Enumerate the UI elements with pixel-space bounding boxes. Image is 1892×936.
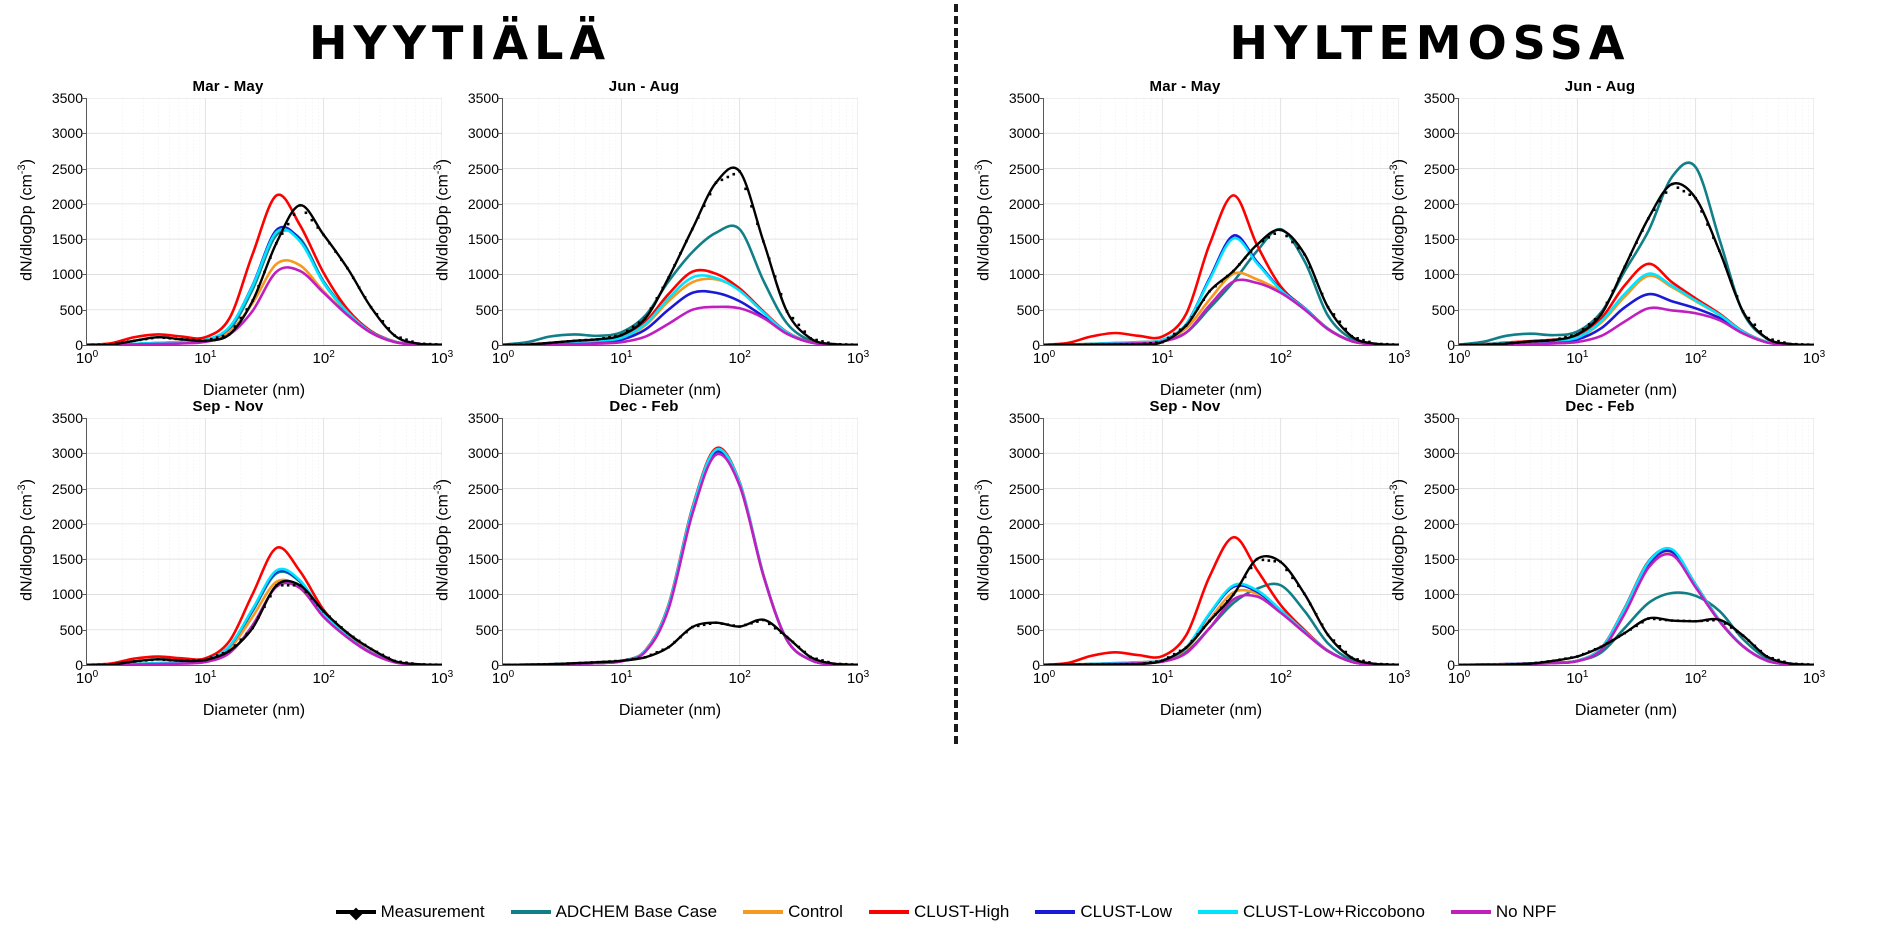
- y-tick-mark: [1454, 274, 1459, 275]
- x-tick-label: 101: [610, 669, 632, 687]
- y-tick-label: 500: [60, 302, 83, 318]
- legend-item-no-npf[interactable]: No NPF: [1451, 902, 1556, 922]
- x-tick-label: 100: [76, 349, 98, 367]
- y-axis-label: dN/dlogDp (cm-3): [16, 100, 36, 340]
- x-axis-label: Diameter (nm): [60, 702, 448, 720]
- x-tick-label: 103: [847, 349, 869, 367]
- x-tick-label: 102: [1270, 349, 1292, 367]
- y-tick-label: 2000: [1009, 196, 1040, 212]
- x-tick-label: 101: [1566, 349, 1588, 367]
- y-axis-label: dN/dlogDp (cm-3): [432, 420, 452, 660]
- y-tick-label: 1000: [52, 586, 83, 602]
- y-tick-mark: [498, 274, 503, 275]
- y-tick-mark: [1039, 559, 1044, 560]
- plot-area: 0500100015002000250030003500100101102103: [1043, 98, 1399, 346]
- x-tick-label: 102: [1270, 669, 1292, 687]
- y-tick-mark: [82, 239, 87, 240]
- legend-swatch-icon: [511, 910, 551, 914]
- y-tick-mark: [1039, 169, 1044, 170]
- y-tick-label: 500: [1432, 302, 1455, 318]
- y-tick-label: 1500: [52, 231, 83, 247]
- y-tick-label: 3000: [1424, 445, 1455, 461]
- panel-hyltemossa-mar-may: Mar - MaydN/dlogDp (cm-3)Diameter (nm)05…: [965, 78, 1405, 398]
- y-tick-label: 500: [476, 622, 499, 638]
- y-tick-label: 1000: [468, 586, 499, 602]
- panel-hyltemossa-jun-aug: Jun - AugdN/dlogDp (cm-3)Diameter (nm)05…: [1380, 78, 1820, 398]
- x-tick-label: 102: [729, 669, 751, 687]
- panel-hyytiala-mar-may: Mar - MaydN/dlogDp (cm-3)Diameter (nm)05…: [8, 78, 448, 398]
- y-tick-label: 1000: [1009, 266, 1040, 282]
- y-tick-label: 3000: [468, 125, 499, 141]
- y-tick-mark: [82, 594, 87, 595]
- y-tick-label: 1000: [1424, 586, 1455, 602]
- site-title-hyltemossa: HYLTEMOSSA: [1090, 16, 1770, 70]
- plot-area: 0500100015002000250030003500100101102103: [502, 98, 858, 346]
- y-tick-mark: [1039, 665, 1044, 666]
- y-tick-mark: [1039, 274, 1044, 275]
- y-tick-mark: [498, 453, 503, 454]
- y-tick-mark: [498, 418, 503, 419]
- y-tick-mark: [498, 133, 503, 134]
- y-tick-label: 1500: [1424, 551, 1455, 567]
- legend-label: Control: [788, 902, 843, 922]
- legend-swatch-icon: [1035, 910, 1075, 914]
- x-tick-label: 101: [1151, 349, 1173, 367]
- y-tick-mark: [82, 133, 87, 134]
- legend-label: ADCHEM Base Case: [556, 902, 718, 922]
- x-tick-label: 103: [1803, 669, 1825, 687]
- y-tick-mark: [1454, 559, 1459, 560]
- legend-item-clust-high[interactable]: CLUST-High: [869, 902, 1009, 922]
- x-tick-label: 100: [76, 669, 98, 687]
- y-tick-label: 3500: [468, 410, 499, 426]
- y-tick-label: 2000: [1009, 516, 1040, 532]
- legend-swatch-icon: [336, 910, 376, 914]
- y-axis-label: dN/dlogDp (cm-3): [1388, 100, 1408, 340]
- y-tick-label: 2000: [1424, 516, 1455, 532]
- y-tick-label: 2000: [52, 516, 83, 532]
- y-tick-mark: [1039, 418, 1044, 419]
- panel-hyltemossa-sep-nov: Sep - NovdN/dlogDp (cm-3)Diameter (nm)05…: [965, 398, 1405, 718]
- y-tick-mark: [1454, 98, 1459, 99]
- y-tick-label: 500: [1017, 622, 1040, 638]
- legend-swatch-icon: [1198, 910, 1238, 914]
- legend-swatch-icon: [1451, 910, 1491, 914]
- plot-area: 0500100015002000250030003500100101102103: [86, 98, 442, 346]
- y-tick-mark: [82, 310, 87, 311]
- y-tick-label: 3000: [468, 445, 499, 461]
- y-tick-label: 3000: [52, 445, 83, 461]
- y-axis-label: dN/dlogDp (cm-3): [432, 100, 452, 340]
- x-axis-label: Diameter (nm): [1432, 702, 1820, 720]
- y-tick-mark: [1039, 98, 1044, 99]
- y-tick-mark: [498, 665, 503, 666]
- y-tick-mark: [498, 559, 503, 560]
- x-axis-label: Diameter (nm): [1017, 702, 1405, 720]
- y-tick-label: 1500: [1009, 551, 1040, 567]
- y-tick-mark: [1039, 239, 1044, 240]
- x-tick-label: 100: [1448, 349, 1470, 367]
- y-tick-label: 2000: [468, 516, 499, 532]
- y-tick-mark: [1039, 453, 1044, 454]
- legend-item-control[interactable]: Control: [743, 902, 843, 922]
- y-tick-label: 2000: [468, 196, 499, 212]
- y-tick-label: 2000: [1424, 196, 1455, 212]
- x-tick-label: 101: [1151, 669, 1173, 687]
- legend-label: CLUST-Low: [1080, 902, 1172, 922]
- y-tick-mark: [82, 345, 87, 346]
- y-tick-mark: [82, 665, 87, 666]
- x-tick-label: 103: [847, 669, 869, 687]
- legend-item-clust-low-riccobono[interactable]: CLUST-Low+Riccobono: [1198, 902, 1425, 922]
- legend-label: Measurement: [381, 902, 485, 922]
- x-tick-label: 102: [313, 669, 335, 687]
- y-axis-label: dN/dlogDp (cm-3): [1388, 420, 1408, 660]
- y-tick-mark: [1039, 524, 1044, 525]
- y-tick-label: 2500: [1424, 161, 1455, 177]
- y-tick-mark: [82, 418, 87, 419]
- y-tick-label: 3500: [52, 410, 83, 426]
- y-tick-label: 500: [476, 302, 499, 318]
- y-tick-mark: [1454, 665, 1459, 666]
- x-tick-label: 100: [492, 669, 514, 687]
- y-tick-mark: [498, 204, 503, 205]
- y-tick-mark: [1454, 204, 1459, 205]
- x-tick-label: 100: [1033, 669, 1055, 687]
- x-tick-label: 101: [1566, 669, 1588, 687]
- y-tick-mark: [1454, 524, 1459, 525]
- x-tick-label: 101: [194, 669, 216, 687]
- y-tick-label: 2500: [468, 481, 499, 497]
- y-tick-mark: [1454, 489, 1459, 490]
- y-tick-mark: [498, 169, 503, 170]
- y-tick-label: 2500: [52, 481, 83, 497]
- plot-area: 0500100015002000250030003500100101102103: [1458, 418, 1814, 666]
- y-tick-mark: [82, 630, 87, 631]
- legend-swatch-icon: [869, 910, 909, 914]
- x-tick-label: 101: [610, 349, 632, 367]
- y-tick-mark: [1454, 453, 1459, 454]
- y-tick-mark: [82, 274, 87, 275]
- y-tick-mark: [498, 524, 503, 525]
- y-tick-label: 2500: [468, 161, 499, 177]
- y-tick-mark: [498, 310, 503, 311]
- y-tick-mark: [498, 345, 503, 346]
- plot-area: 0500100015002000250030003500100101102103: [502, 418, 858, 666]
- legend-label: No NPF: [1496, 902, 1556, 922]
- y-tick-mark: [498, 630, 503, 631]
- figure-legend: MeasurementADCHEM Base CaseControlCLUST-…: [0, 902, 1892, 922]
- y-tick-label: 500: [1432, 622, 1455, 638]
- y-tick-label: 3500: [1424, 410, 1455, 426]
- y-tick-mark: [498, 489, 503, 490]
- y-axis-label: dN/dlogDp (cm-3): [973, 100, 993, 340]
- y-tick-label: 1000: [468, 266, 499, 282]
- site-title-hyytiala: HYYTIÄLÄ: [150, 16, 770, 70]
- y-tick-mark: [1454, 345, 1459, 346]
- y-tick-label: 500: [60, 622, 83, 638]
- y-tick-mark: [1454, 133, 1459, 134]
- y-tick-label: 2000: [52, 196, 83, 212]
- y-tick-mark: [498, 594, 503, 595]
- y-tick-mark: [82, 204, 87, 205]
- y-tick-mark: [82, 524, 87, 525]
- x-tick-label: 102: [313, 349, 335, 367]
- y-axis-label: dN/dlogDp (cm-3): [973, 420, 993, 660]
- site-divider: [954, 4, 958, 744]
- x-axis-label: Diameter (nm): [476, 702, 864, 720]
- y-tick-label: 1000: [52, 266, 83, 282]
- y-tick-label: 3000: [1009, 125, 1040, 141]
- y-tick-label: 2500: [1424, 481, 1455, 497]
- y-axis-label: dN/dlogDp (cm-3): [16, 420, 36, 660]
- y-tick-mark: [82, 489, 87, 490]
- x-tick-label: 101: [194, 349, 216, 367]
- x-tick-label: 100: [492, 349, 514, 367]
- y-tick-mark: [1039, 133, 1044, 134]
- y-tick-label: 3500: [1009, 410, 1040, 426]
- x-tick-label: 102: [1685, 349, 1707, 367]
- y-tick-mark: [1454, 594, 1459, 595]
- panel-hyytiala-jun-aug: Jun - AugdN/dlogDp (cm-3)Diameter (nm)05…: [424, 78, 864, 398]
- y-tick-mark: [1454, 630, 1459, 631]
- y-tick-mark: [82, 453, 87, 454]
- y-tick-mark: [1454, 418, 1459, 419]
- y-tick-mark: [1454, 239, 1459, 240]
- legend-item-measurement[interactable]: Measurement: [336, 902, 485, 922]
- panel-hyytiala-sep-nov: Sep - NovdN/dlogDp (cm-3)Diameter (nm)05…: [8, 398, 448, 718]
- x-tick-label: 103: [1803, 349, 1825, 367]
- y-tick-mark: [1454, 310, 1459, 311]
- y-tick-label: 1500: [1424, 231, 1455, 247]
- y-tick-label: 1000: [1424, 266, 1455, 282]
- y-tick-label: 500: [1017, 302, 1040, 318]
- legend-label: CLUST-High: [914, 902, 1009, 922]
- y-tick-mark: [1039, 310, 1044, 311]
- y-tick-label: 2500: [52, 161, 83, 177]
- y-tick-label: 2500: [1009, 161, 1040, 177]
- x-tick-label: 102: [729, 349, 751, 367]
- y-tick-mark: [1039, 489, 1044, 490]
- legend-item-clust-low[interactable]: CLUST-Low: [1035, 902, 1172, 922]
- y-tick-label: 1000: [1009, 586, 1040, 602]
- y-tick-mark: [1039, 630, 1044, 631]
- y-tick-mark: [1039, 594, 1044, 595]
- panel-hyltemossa-dec-feb: Dec - FebdN/dlogDp (cm-3)Diameter (nm)05…: [1380, 398, 1820, 718]
- y-tick-label: 1500: [468, 231, 499, 247]
- figure-root: HYYTIÄLÄ HYLTEMOSSA Mar - MaydN/dlogDp (…: [0, 0, 1892, 936]
- y-tick-label: 3500: [1424, 90, 1455, 106]
- y-tick-label: 3000: [1424, 125, 1455, 141]
- panel-hyytiala-dec-feb: Dec - FebdN/dlogDp (cm-3)Diameter (nm)05…: [424, 398, 864, 718]
- y-tick-label: 1500: [52, 551, 83, 567]
- y-tick-label: 3000: [52, 125, 83, 141]
- y-tick-mark: [82, 559, 87, 560]
- y-tick-label: 3500: [468, 90, 499, 106]
- plot-area: 0500100015002000250030003500100101102103: [1458, 98, 1814, 346]
- plot-area: 0500100015002000250030003500100101102103: [86, 418, 442, 666]
- y-tick-mark: [82, 169, 87, 170]
- legend-label: CLUST-Low+Riccobono: [1243, 902, 1425, 922]
- y-tick-label: 1500: [1009, 231, 1040, 247]
- y-tick-label: 2500: [1009, 481, 1040, 497]
- x-tick-label: 102: [1685, 669, 1707, 687]
- x-tick-label: 100: [1448, 669, 1470, 687]
- y-tick-label: 3500: [52, 90, 83, 106]
- y-tick-mark: [82, 98, 87, 99]
- plot-area: 0500100015002000250030003500100101102103: [1043, 418, 1399, 666]
- y-tick-label: 1500: [468, 551, 499, 567]
- x-tick-label: 100: [1033, 349, 1055, 367]
- y-tick-label: 3500: [1009, 90, 1040, 106]
- legend-item-adchem-base-case[interactable]: ADCHEM Base Case: [511, 902, 718, 922]
- legend-swatch-icon: [743, 910, 783, 914]
- y-tick-mark: [1454, 169, 1459, 170]
- y-tick-mark: [498, 98, 503, 99]
- y-tick-mark: [1039, 345, 1044, 346]
- y-tick-mark: [498, 239, 503, 240]
- y-tick-mark: [1039, 204, 1044, 205]
- y-tick-label: 3000: [1009, 445, 1040, 461]
